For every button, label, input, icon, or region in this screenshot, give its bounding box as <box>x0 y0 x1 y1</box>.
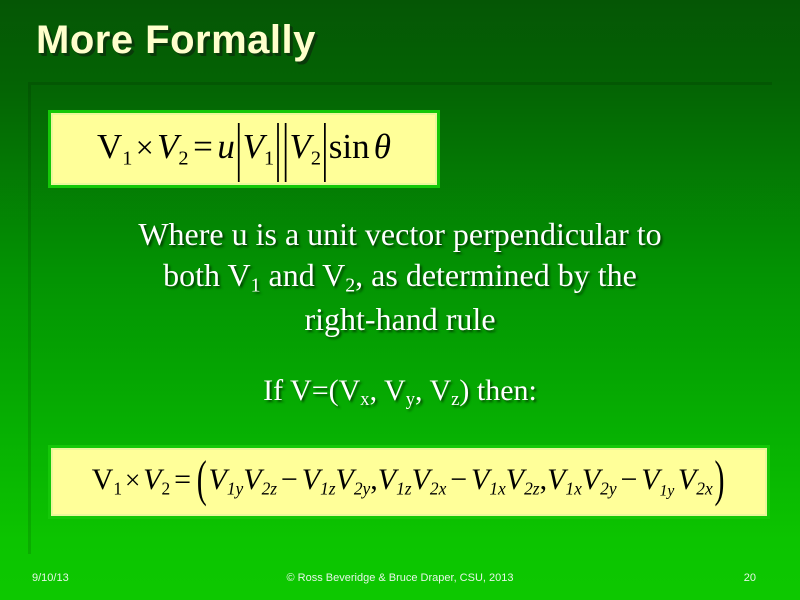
if-sub-x: x <box>360 389 369 410</box>
eq1-bar-open-1: | <box>235 114 243 179</box>
eq1-v2-sub: 2 <box>178 148 188 170</box>
eq1-bar-mid-2: | <box>282 114 290 179</box>
eq1-theta: θ <box>374 127 391 166</box>
eq2-t2-minus: − <box>446 463 471 496</box>
eq2-t1-d: V <box>336 463 354 496</box>
eq2-t1-b-sub: 2z <box>262 478 277 498</box>
eq2-t2-a-sub: 1z <box>396 478 411 498</box>
if-sub-y: y <box>406 389 415 410</box>
if-line-c: , V <box>415 374 451 407</box>
eq1-bar-mid-1: | <box>274 114 282 179</box>
where-line-3: right-hand rule <box>40 299 760 340</box>
eq2-comma-1: , <box>370 463 378 496</box>
eq2-t3-c: V <box>641 463 659 496</box>
slide: More Formally V1×V2=u|V1||V2|sinθ Where … <box>0 0 800 600</box>
eq2-t2-c-sub: 1x <box>489 478 505 498</box>
footer-page-number: 20 <box>744 572 756 584</box>
eq2-t2-c: V <box>471 463 489 496</box>
eq2-term-1: V1yV2z−V1zV2y <box>208 463 370 496</box>
where-line-2-sub1: 1 <box>251 275 261 297</box>
eq1-v2: V2 <box>157 127 189 166</box>
eq2-term-2: V1zV2x−V1xV2z <box>378 463 540 496</box>
eq2-t1-a: V <box>208 463 226 496</box>
eq2-t2-b-sub: 2x <box>430 478 446 498</box>
where-line-2-c: , as determined by the <box>355 257 637 293</box>
eq2-t1-d-sub: 2y <box>354 478 370 498</box>
slide-footer: 9/10/13 © Ross Beveridge & Bruce Draper,… <box>0 558 800 600</box>
where-line-2-b: and V <box>261 257 346 293</box>
if-line-b: , V <box>370 374 406 407</box>
eq2-t3-b: V <box>582 463 600 496</box>
eq2-t1-c: V <box>302 463 320 496</box>
where-line-2-a: both V <box>163 257 250 293</box>
eq2-t1-minus: − <box>277 463 302 496</box>
eq2-v1-sub: 1 <box>113 478 122 498</box>
footer-credit: © Ross Beveridge & Bruce Draper, CSU, 20… <box>0 572 800 584</box>
where-line-2-sub2: 2 <box>345 275 355 297</box>
eq2-v2-sub: 2 <box>161 478 170 498</box>
eq2-t2-b: V <box>412 463 430 496</box>
eq2-equals: = <box>170 463 195 496</box>
eq2-t1-c-sub: 1z <box>320 478 335 498</box>
eq2-t3-d: V <box>678 463 696 496</box>
eq1-equals: = <box>189 127 218 166</box>
where-line-1: Where u is a unit vector perpendicular t… <box>40 214 760 255</box>
eq2-close-paren: ) <box>713 454 727 505</box>
paragraph-where-definition: Where u is a unit vector perpendicular t… <box>40 214 760 340</box>
eq1-mag-v2-sub: 2 <box>311 148 321 170</box>
eq2-times-operator: × <box>122 464 143 495</box>
eq2-t3-d-sub: 2x <box>696 478 712 498</box>
eq2-term-3: V1xV2y−V1yV2x <box>547 463 713 496</box>
equation-box-cross-product-components: V1×V2=(V1yV2z−V1zV2y,V1zV2x−V1xV2z,V1xV2… <box>48 445 770 519</box>
eq2-v2: V2 <box>143 463 170 496</box>
if-line-a: If V=(V <box>263 374 360 407</box>
eq2-t2-d: V <box>506 463 524 496</box>
eq1-unit-vector-u: u <box>217 127 235 166</box>
eq2-v1: V1 <box>92 463 122 496</box>
eq2-t3-minus: − <box>617 463 642 496</box>
eq2-t1-a-sub: 1y <box>227 478 243 498</box>
eq2-t3-a: V <box>547 463 565 496</box>
eq2-t3-a-sub: 1x <box>565 478 581 498</box>
eq1-v1-sub: 1 <box>122 148 132 170</box>
eq2-open-paren: ( <box>195 454 209 505</box>
eq1-mag-v1-sub: 1 <box>264 148 274 170</box>
eq1-bar-close: | <box>321 114 329 179</box>
eq2-t2-a: V <box>378 463 396 496</box>
if-line-d: ) then: <box>459 374 536 407</box>
eq1-times-operator: × <box>132 129 157 165</box>
where-line-2: both V1 and V2, as determined by the <box>40 255 760 299</box>
paragraph-if-component-form: If V=(Vx, Vy, Vz) then: <box>40 372 760 411</box>
eq2-t1-b: V <box>243 463 261 496</box>
eq2-t2-d-sub: 2z <box>524 478 539 498</box>
eq1-mag-v1: V1 <box>243 127 275 166</box>
eq1-sin: sin <box>329 127 370 166</box>
equation-2-content: V1×V2=(V1yV2z−V1zV2y,V1zV2x−V1xV2z,V1xV2… <box>92 465 727 499</box>
eq1-mag-v2: V2 <box>290 127 322 166</box>
equation-box-cross-product-magnitude: V1×V2=u|V1||V2|sinθ <box>48 110 440 188</box>
eq2-t3-c-sub: 1y <box>660 482 675 499</box>
equation-1-content: V1×V2=u|V1||V2|sinθ <box>97 129 391 169</box>
eq2-t3-b-sub: 2y <box>600 478 616 498</box>
eq2-comma-2: , <box>540 463 548 496</box>
page-title: More Formally <box>36 18 756 62</box>
eq1-v1: V1 <box>97 127 132 166</box>
